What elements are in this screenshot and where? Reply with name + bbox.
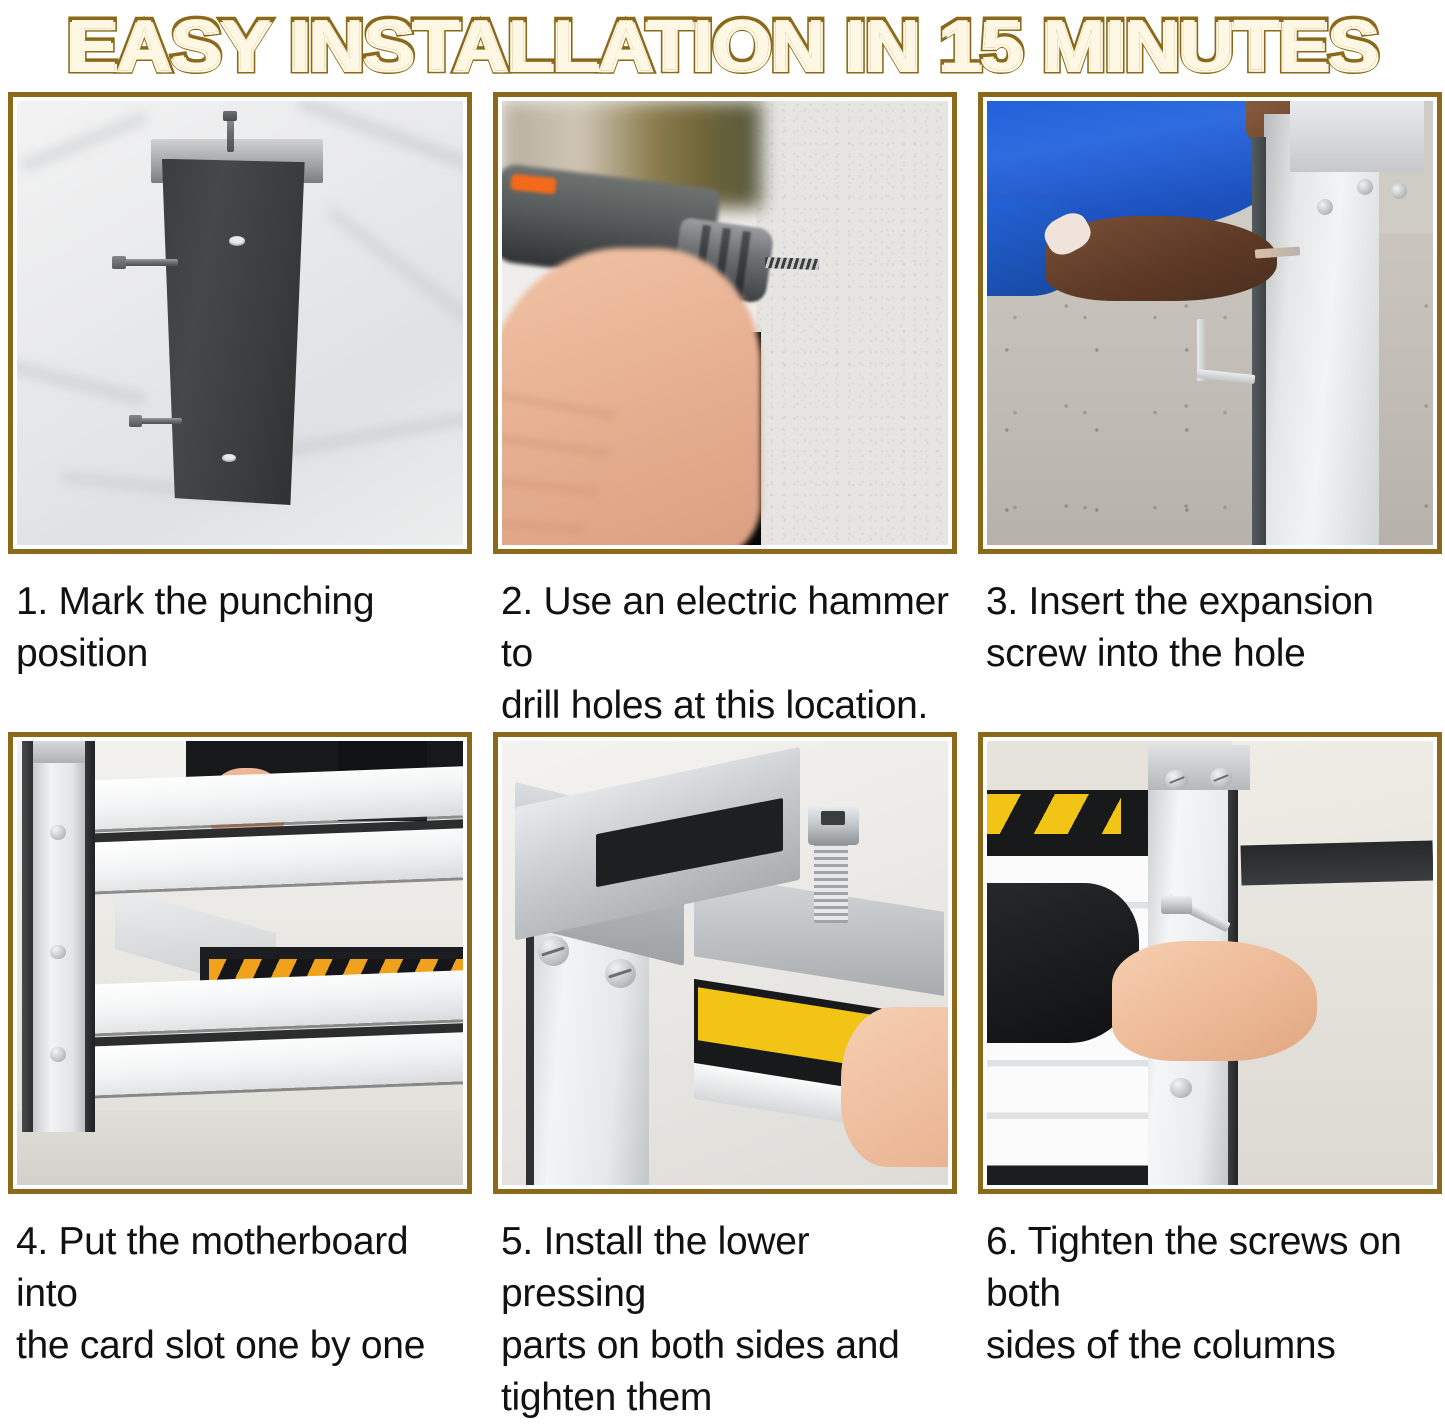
step-caption-5: 5. Install the lower pressing parts on b… — [493, 1194, 957, 1424]
wall-skirting — [1241, 841, 1433, 886]
column-body — [162, 159, 305, 505]
column-cap — [1148, 745, 1251, 789]
step-card-4: 4. Put the motherboard into the card slo… — [8, 732, 472, 1424]
finger — [502, 478, 600, 494]
step-photo-4 — [17, 741, 463, 1185]
post-screw — [50, 945, 65, 959]
step-card-5: 5. Install the lower pressing parts on b… — [493, 732, 957, 1424]
hand — [502, 248, 761, 545]
bracket-screw — [538, 936, 569, 965]
column-screw — [1317, 199, 1333, 215]
finger — [502, 434, 611, 456]
drill-bit — [765, 257, 819, 270]
textured-wall — [756, 101, 948, 545]
step-photo-frame-2 — [493, 92, 957, 554]
top-bolt-head — [223, 111, 237, 121]
finger — [502, 521, 584, 532]
step-caption-1: 1. Mark the punching position — [8, 554, 472, 694]
post-screw — [50, 1047, 65, 1061]
hazard-stripe-tape — [987, 794, 1121, 834]
hand — [1112, 941, 1317, 1061]
cloth-fold — [20, 112, 148, 171]
step-photo-6 — [987, 741, 1433, 1185]
column-cap-screw — [1165, 770, 1187, 790]
mounting-hole — [229, 236, 245, 245]
post-top-cap — [33, 741, 87, 763]
installation-steps-grid: 1. Mark the punching position — [0, 92, 1445, 1424]
step-photo-frame-3 — [978, 92, 1442, 554]
column-dark-edge — [526, 901, 534, 1185]
header-banner: EASY INSTALLATION IN 15 MINUTES EASY INS… — [0, 0, 1445, 92]
finger — [502, 392, 616, 418]
step-card-1: 1. Mark the punching position — [8, 92, 472, 732]
column-dark-edge — [1252, 137, 1265, 545]
step-caption-3: 3. Insert the expansion screw into the h… — [978, 554, 1442, 694]
post-right-edge — [85, 741, 95, 1132]
step-card-6: 6. Tighten the screws on both sides of t… — [978, 732, 1442, 1424]
hex-key-head — [1161, 896, 1192, 914]
step-caption-2: 2. Use an electric hammer to drill holes… — [493, 554, 957, 732]
step-photo-1 — [17, 101, 463, 545]
step-card-2: 2. Use an electric hammer to drill holes… — [493, 92, 957, 732]
step-caption-4: 4. Put the motherboard into the card slo… — [8, 1194, 472, 1372]
step-photo-frame-1 — [8, 92, 472, 554]
column-cap — [1290, 101, 1424, 172]
thumbscrew-hex-socket — [821, 811, 846, 825]
step-photo-frame-6 — [978, 732, 1442, 1194]
lower-bolt-head — [129, 415, 141, 427]
column-screw — [1357, 179, 1373, 195]
step-photo-3 — [987, 101, 1433, 545]
post-screw — [50, 825, 65, 839]
thumbscrew-shaft — [814, 839, 847, 923]
cloth-fold — [327, 207, 463, 324]
cloth-fold — [17, 358, 145, 405]
step-photo-frame-4 — [8, 732, 472, 1194]
step-caption-6: 6. Tighten the screws on both sides of t… — [978, 1194, 1442, 1372]
page-title: EASY INSTALLATION IN 15 MINUTES EASY INS… — [67, 3, 1378, 89]
mounting-hole — [222, 454, 235, 462]
side-bolt-head — [112, 256, 126, 269]
hand — [841, 1007, 948, 1167]
column-screw — [1391, 183, 1407, 199]
step-card-3: 3. Insert the expansion screw into the h… — [978, 92, 1442, 732]
column-screw — [1170, 1078, 1192, 1098]
step-photo-frame-5 — [493, 732, 957, 1194]
bracket-screw — [605, 959, 636, 988]
step-photo-5 — [502, 741, 948, 1185]
page-title-fill: EASY INSTALLATION IN 15 MINUTES — [67, 3, 1378, 89]
card-slot-post — [33, 741, 87, 1132]
step-photo-2 — [502, 101, 948, 545]
